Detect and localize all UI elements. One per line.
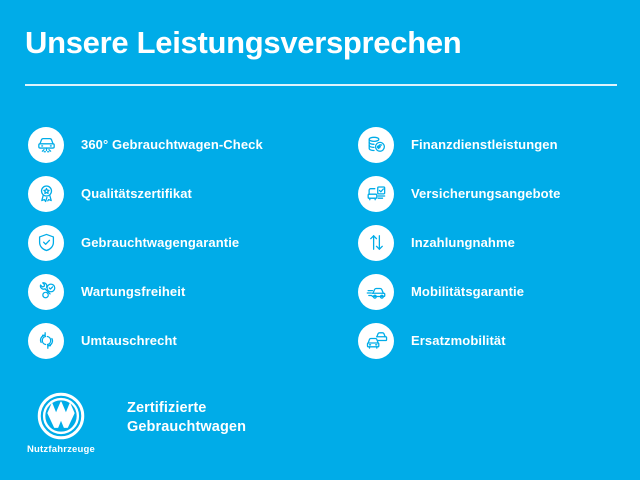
car-inspection-icon [28, 127, 64, 163]
slide-root: Unsere Leistungsversprechen 360° Gebrauc… [0, 0, 640, 480]
benefit-item-finanzdienstleistungen[interactable]: Finanzdienstleistungen [358, 120, 640, 169]
benefit-label: Qualitätszertifikat [81, 186, 192, 202]
benefit-label: Inzahlungnahme [411, 235, 515, 251]
benefit-item-wartungsfreiheit[interactable]: Wartungsfreiheit [28, 267, 328, 316]
benefits-right-column: Finanzdienstleistungen Versicherungsange… [358, 120, 640, 365]
benefit-label: Wartungsfreiheit [81, 284, 185, 300]
header-divider [25, 84, 617, 86]
benefit-item-gebrauchtwagen-check[interactable]: 360° Gebrauchtwagen-Check [28, 120, 328, 169]
benefit-item-ersatzmobilitaet[interactable]: Ersatzmobilität [358, 316, 640, 365]
shield-check-icon [28, 225, 64, 261]
benefit-item-gebrauchtwagengarantie[interactable]: Gebrauchtwagengarantie [28, 218, 328, 267]
footer-claim-line-2: Gebrauchtwagen [127, 418, 246, 437]
car-motion-icon [358, 274, 394, 310]
vw-roundel-icon [37, 392, 85, 440]
volkswagen-logo: Nutzfahrzeuge [22, 392, 100, 455]
benefit-label: Umtauschrecht [81, 333, 177, 349]
page-title: Unsere Leistungsversprechen [25, 24, 617, 62]
benefit-item-versicherungsangebote[interactable]: Versicherungsangebote [358, 169, 640, 218]
benefit-label: Versicherungsangebote [411, 186, 560, 202]
benefits-left-column: 360° Gebrauchtwagen-Check Qualitätszerti… [28, 120, 328, 365]
footer-claim-line-1: Zertifizierte [127, 399, 246, 418]
coins-euro-icon [358, 127, 394, 163]
car-document-check-icon [358, 176, 394, 212]
footer-claim: Zertifizierte Gebrauchtwagen [127, 399, 246, 437]
benefit-label: 360° Gebrauchtwagen-Check [81, 137, 263, 153]
exchange-arrows-icon [28, 323, 64, 359]
footer: Nutzfahrzeuge Zertifizierte Gebrauchtwag… [22, 392, 246, 455]
benefits-section: 360° Gebrauchtwagen-Check Qualitätszerti… [0, 120, 640, 365]
benefit-item-umtauschrecht[interactable]: Umtauschrecht [28, 316, 328, 365]
benefit-item-mobilitaetsgarantie[interactable]: Mobilitätsgarantie [358, 267, 640, 316]
two-cars-icon [358, 323, 394, 359]
benefit-label: Ersatzmobilität [411, 333, 506, 349]
wrench-check-icon [28, 274, 64, 310]
logo-sublabel: Nutzfahrzeuge [27, 444, 95, 455]
header: Unsere Leistungsversprechen [25, 24, 617, 62]
award-rosette-icon [28, 176, 64, 212]
benefit-item-qualitaetszertifikat[interactable]: Qualitätszertifikat [28, 169, 328, 218]
benefit-label: Finanzdienstleistungen [411, 137, 558, 153]
benefit-label: Gebrauchtwagengarantie [81, 235, 239, 251]
up-down-arrows-icon [358, 225, 394, 261]
benefit-item-inzahlungnahme[interactable]: Inzahlungnahme [358, 218, 640, 267]
benefit-label: Mobilitätsgarantie [411, 284, 524, 300]
